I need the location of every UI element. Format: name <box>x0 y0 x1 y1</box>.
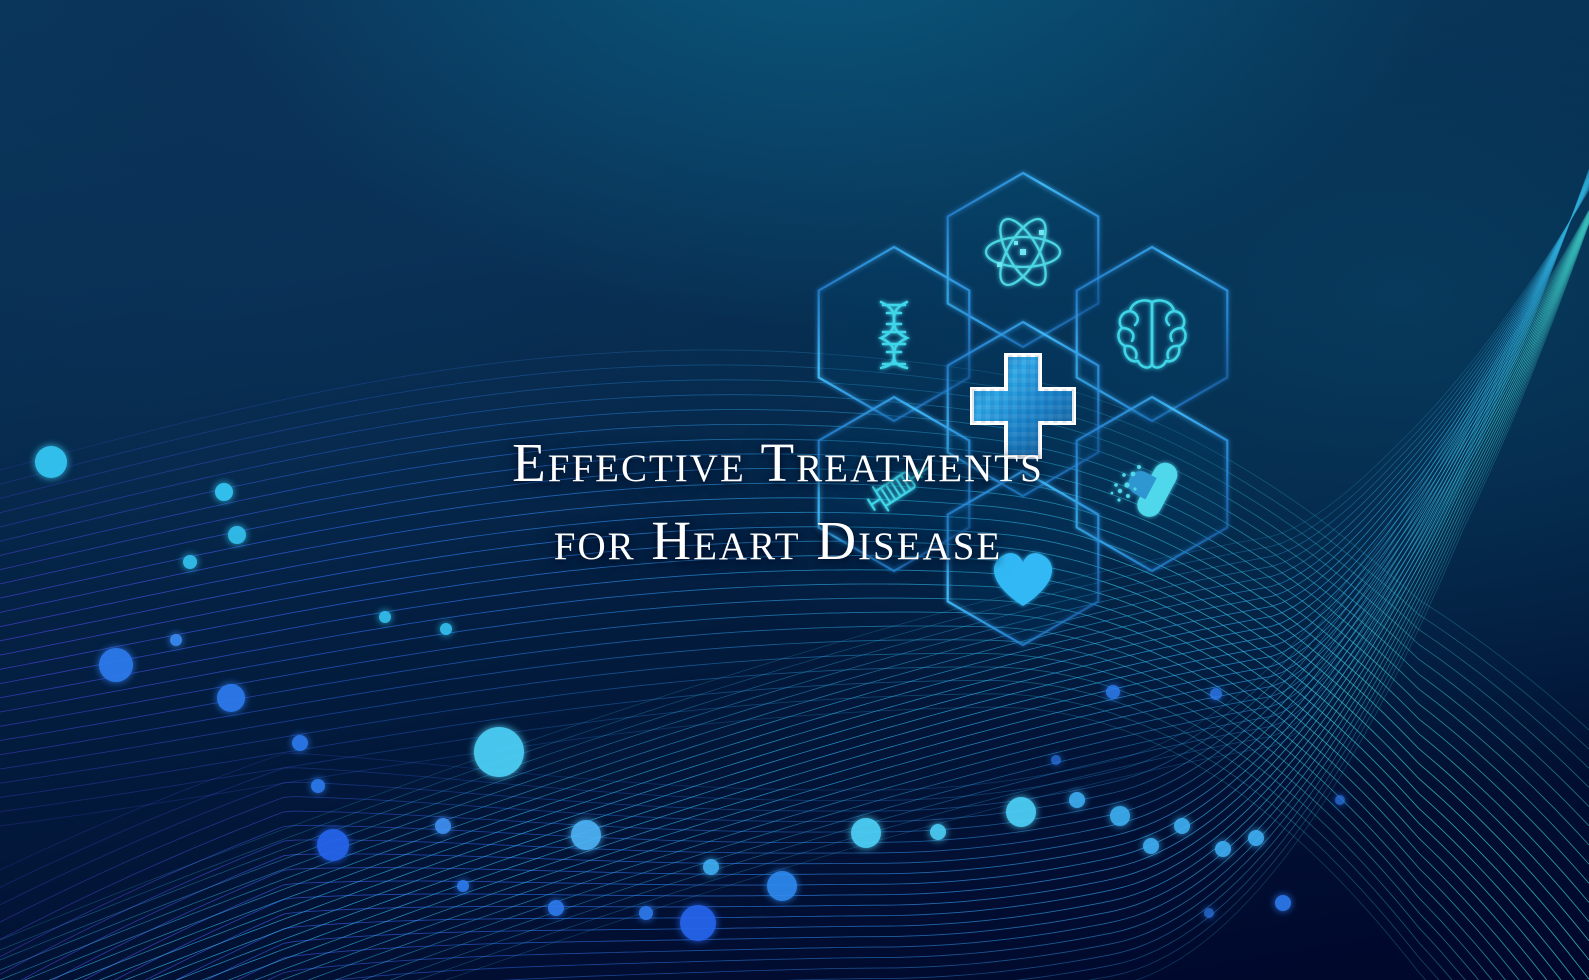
slide-canvas: Effective Treatments for Heart Disease <box>0 0 1589 980</box>
hexagon-icon-cluster <box>0 0 1589 980</box>
